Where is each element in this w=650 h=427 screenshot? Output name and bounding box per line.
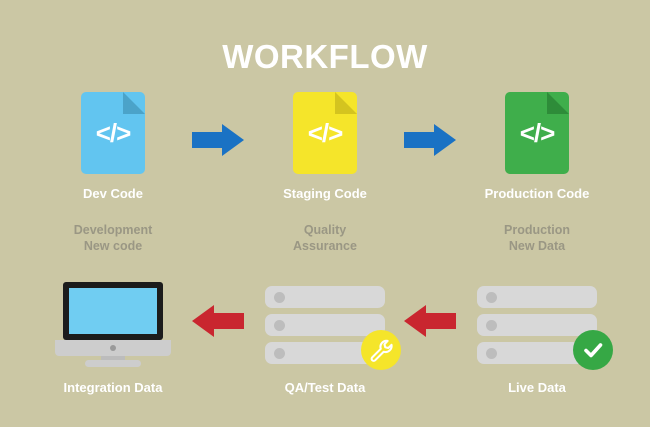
wrench-icon: [368, 337, 394, 363]
server-led-icon: [274, 348, 285, 359]
code-glyph: </>: [505, 92, 569, 174]
stage-subtitle-line-1: Quality: [250, 222, 400, 238]
stage-subtitle-line-1: Production: [462, 222, 612, 238]
server-led-icon: [486, 320, 497, 331]
workflow-stage-integration-data: Integration Data: [38, 282, 188, 396]
stage-label: QA/Test Data: [250, 380, 400, 396]
server-bar: [265, 314, 385, 336]
stage-subtitle: Production New Data: [462, 222, 612, 254]
monitor-indicator-dot: [110, 345, 116, 351]
code-file-icon: </>: [505, 92, 569, 174]
monitor-icon: [55, 282, 171, 366]
stage-subtitle-line-2: New Data: [462, 238, 612, 254]
workflow-diagram: WORKFLOW </> Dev Code Development New co…: [0, 0, 650, 427]
arrow-left-icon: [192, 304, 248, 338]
code-file-icon: </>: [293, 92, 357, 174]
server-stack-icon: [265, 282, 385, 366]
stage-label: Live Data: [462, 380, 612, 396]
arrow-right-icon: [404, 123, 460, 157]
code-glyph: </>: [293, 92, 357, 174]
stage-subtitle: Development New code: [38, 222, 188, 254]
server-stack-icon: [477, 282, 597, 366]
workflow-stage-qa-test-data: QA/Test Data: [250, 282, 400, 396]
server-bar: [477, 286, 597, 308]
monitor-stand-base: [85, 360, 141, 367]
stage-subtitle: Quality Assurance: [250, 222, 400, 254]
check-badge: [573, 330, 613, 370]
workflow-stage-live-data: Live Data: [462, 282, 612, 396]
stage-subtitle-line-1: Development: [38, 222, 188, 238]
workflow-stage-staging-code: </> Staging Code Quality Assurance: [250, 92, 400, 254]
server-bar: [265, 286, 385, 308]
stage-label: Production Code: [462, 186, 612, 202]
stage-subtitle-line-2: New code: [38, 238, 188, 254]
monitor-bezel: [63, 282, 163, 340]
workflow-stage-production-code: </> Production Code Production New Data: [462, 92, 612, 254]
code-glyph: </>: [81, 92, 145, 174]
arrow-left-icon: [404, 304, 460, 338]
server-led-icon: [486, 292, 497, 303]
server-led-icon: [274, 320, 285, 331]
stage-label: Integration Data: [38, 380, 188, 396]
stage-label: Dev Code: [38, 186, 188, 202]
server-led-icon: [274, 292, 285, 303]
check-icon: [581, 338, 605, 362]
workflow-stage-dev-code: </> Dev Code Development New code: [38, 92, 188, 254]
monitor-screen: [69, 288, 157, 334]
server-bar: [477, 314, 597, 336]
arrow-right-icon: [192, 123, 248, 157]
page-title: WORKFLOW: [0, 38, 650, 76]
wrench-badge: [361, 330, 401, 370]
code-file-icon: </>: [81, 92, 145, 174]
stage-label: Staging Code: [250, 186, 400, 202]
server-led-icon: [486, 348, 497, 359]
stage-subtitle-line-2: Assurance: [250, 238, 400, 254]
